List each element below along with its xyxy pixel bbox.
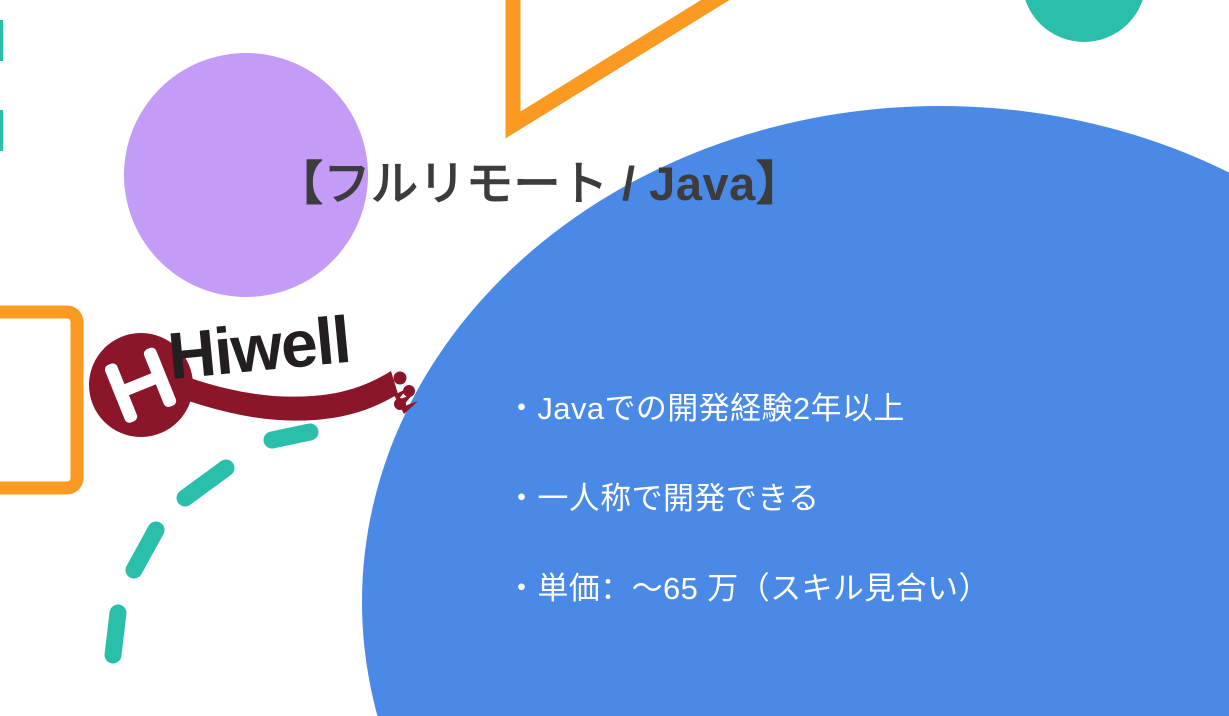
text-layer: 【フルリモート / Java】 ・Javaでの開発経験2年以上 ・一人称で開発で… [0, 0, 1229, 716]
page-title: 【フルリモート / Java】 [276, 156, 916, 212]
slide-canvas: Hiwell 【フルリモート / Java】 ・Javaでの開発経験2年以上 ・… [0, 0, 1229, 716]
list-item: ・Javaでの開発経験2年以上 [506, 392, 1126, 426]
list-item: ・単価：〜65 万（スキル見合い） [506, 572, 1126, 606]
requirements-list: ・Javaでの開発経験2年以上 ・一人称で開発できる ・単価：〜65 万（スキル… [506, 392, 1126, 606]
list-item: ・一人称で開発できる [506, 482, 1126, 516]
